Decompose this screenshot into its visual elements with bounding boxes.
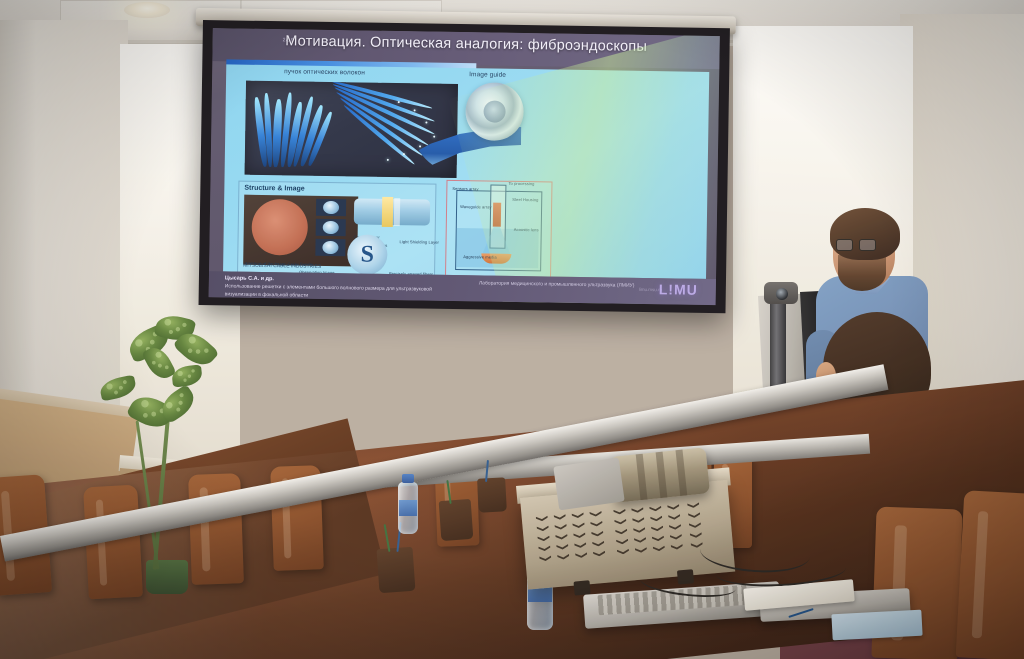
vendor-mark: MITSUBISHI CABLE INDUSTRIES (243, 263, 321, 270)
laptop-lid[interactable] (553, 458, 624, 511)
pen-cup (477, 477, 507, 512)
glasses-icon (836, 239, 874, 249)
downlight-icon (124, 2, 170, 18)
projection-screen: 2/19 Мотивация. Оптическая аналогия: фиб… (199, 20, 730, 313)
footer-author: Цысарь С.А. и др. (225, 275, 274, 282)
chair (956, 490, 1024, 659)
footer-lab: Лаборатория медицинского и промышленного… (479, 280, 639, 290)
label-image-guide: Image guide (469, 71, 506, 79)
presenter-hair (830, 208, 900, 260)
label-structure-image: Structure & Image (244, 185, 304, 193)
pen-cup (377, 547, 416, 593)
callout-waveguide-array: Waveguide array (460, 204, 492, 209)
fiber-optic-photo (245, 81, 458, 178)
callout-acoustic-lens: Acoustic lens (514, 227, 539, 232)
limu-logo: L!MU (659, 281, 698, 298)
callout-to-processing: To processing (508, 181, 534, 186)
slide-content-area: пучок оптических волокон Image guide (223, 64, 709, 279)
fiber-bundle-illustration (253, 91, 332, 170)
footer-paper-title: Использование решетки с элементами больш… (225, 283, 455, 302)
micrograph-stack (315, 199, 346, 257)
callout-sensors-array: Sensors array (452, 186, 478, 191)
callout-shielding-layer: Light Shielding Layer (400, 239, 440, 245)
callout-aggressive-media: Aggressive media (463, 254, 496, 260)
fiber-tube-diagram (354, 194, 431, 229)
notebook (831, 610, 922, 641)
callout-steel-housing: Steel Housing (512, 197, 538, 202)
conference-room-photo: 2/19 Мотивация. Оптическая аналогия: фиб… (0, 0, 1024, 659)
label-fiber-bundle: пучок оптических волокон (284, 68, 365, 76)
presentation-slide: 2/19 Мотивация. Оптическая аналогия: фиб… (209, 28, 720, 305)
s-letter-glyph: S (347, 234, 388, 275)
bottle-label (399, 500, 417, 516)
pen-cup (439, 499, 474, 541)
bottle-cap (402, 474, 414, 483)
footer-author-block: Цысарь С.А. и др. Использование решетки … (225, 274, 455, 302)
transducer-element (493, 203, 501, 227)
presenter-beard (838, 255, 886, 291)
screen-surface: 2/19 Мотивация. Оптическая аналогия: фиб… (209, 28, 720, 305)
webcam-lens (776, 288, 788, 300)
